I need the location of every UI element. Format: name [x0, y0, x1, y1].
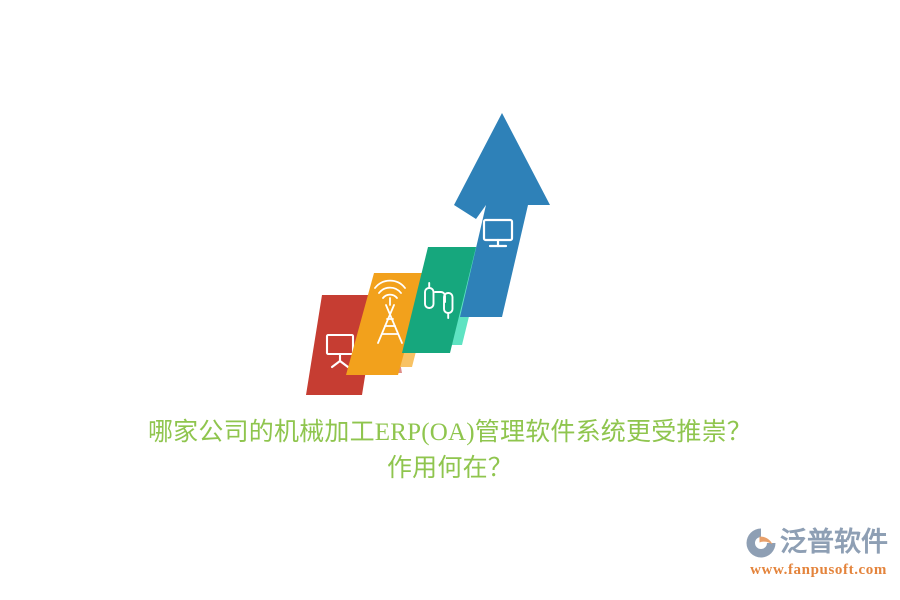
brand-url[interactable]: www.fanpusoft.com — [728, 560, 888, 580]
arrow-head — [454, 113, 550, 219]
page-title: 哪家公司的机械加工ERP(OA)管理软件系统更受推崇？ 作用何在？ — [0, 415, 900, 487]
banner-canvas: 哪家公司的机械加工ERP(OA)管理软件系统更受推崇？ 作用何在？ 泛普软件 w… — [0, 0, 900, 600]
brand-logo[interactable]: 泛普软件 www.fanpusoft.com — [728, 526, 888, 588]
page-title-line-2: 作用何在？ — [0, 451, 900, 487]
fanpu-logo-icon — [745, 527, 777, 559]
page-title-line-1: 哪家公司的机械加工ERP(OA)管理软件系统更受推崇？ — [0, 415, 900, 451]
ascending-arrow-graphic — [290, 95, 600, 405]
brand-logo-row: 泛普软件 — [728, 526, 888, 560]
segment-blue — [454, 113, 550, 317]
brand-name: 泛普软件 — [780, 528, 888, 558]
